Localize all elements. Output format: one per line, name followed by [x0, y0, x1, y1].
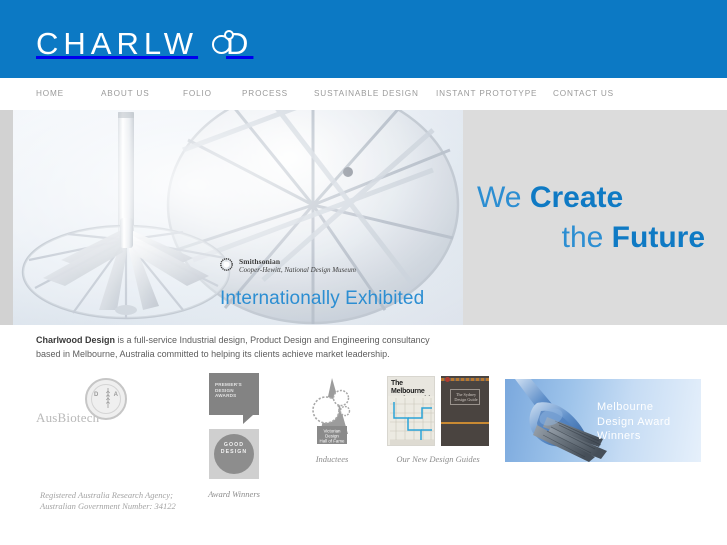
sydney-guide-title-line2: Design Guide [451, 397, 481, 402]
nav-item-contact-us[interactable]: CONTACT US [553, 78, 614, 110]
award-group-design-guides: The Melbourne Design Guide [383, 376, 493, 464]
hero-banner[interactable]: We Create the Future Smithsonian Cooper-… [0, 110, 727, 325]
good-design-line1: GOOD [209, 442, 259, 449]
hero-caption-internationally-exhibited: Internationally Exhibited [220, 288, 424, 310]
premiers-design-awards-logo: PREMIER'S DESIGN AWARDS [209, 373, 259, 415]
caption-inductees: Inductees [297, 454, 367, 464]
nav-item-about-us[interactable]: ABOUT US [101, 78, 150, 110]
melbourne-design-award-winners-panel[interactable]: Melbourne Design Award Winners [505, 379, 701, 462]
mdaw-line3: Winners [597, 429, 671, 444]
good-design-logo: GOOD DESIGN [209, 429, 259, 479]
smithsonian-subtitle: Cooper-Hewitt, National Design Museum [239, 266, 356, 275]
melbourne-guide-title-line1: The Melbourne [391, 380, 434, 396]
intro-paragraph: Charlwood Design is a full-service Indus… [36, 334, 456, 361]
da-badge-wheat-icon [106, 388, 110, 408]
premiers-line3: AWARDS [215, 393, 242, 399]
smithsonian-name: Smithsonian [239, 257, 356, 266]
svg-text:Hall of Fame: Hall of Fame [320, 439, 345, 444]
tagline-future: Future [612, 221, 705, 254]
main-navigation: HOME ABOUT US FOLIO PROCESS SUSTAINABLE … [0, 78, 727, 110]
caption-design-guides: Our New Design Guides [383, 454, 493, 464]
hero-tagline-panel: We Create the Future [463, 110, 727, 325]
melbourne-map-graphic [388, 396, 435, 446]
nav-item-process[interactable]: PROCESS [242, 78, 288, 110]
good-design-line2: DESIGN [209, 449, 259, 456]
site-header: CHARLW D [0, 0, 727, 78]
award-group-award-winners: PREMIER'S DESIGN AWARDS GOOD DESIGN Awar… [188, 373, 280, 499]
site-logo[interactable]: CHARLW D [36, 27, 253, 61]
hall-of-fame-icon: Victorian Design Hall of Fame [304, 376, 360, 448]
premiers-line1: PREMIER'S [215, 382, 242, 388]
victorian-design-hall-of-fame-logo: Victorian Design Hall of Fame [304, 376, 360, 448]
tagline-create: Create [530, 181, 623, 214]
registration-line2: Australian Government Number: 34122 [40, 501, 176, 512]
logo-double-circle-icon [212, 30, 236, 54]
awards-strip: AusBiotech D A PREMIER'S DESIGN AWAR [0, 368, 727, 498]
hero-left-strip [0, 110, 13, 325]
melbourne-design-guide-cover: The Melbourne Design Guide [387, 376, 435, 446]
caption-award-winners: Award Winners [188, 489, 280, 499]
smithsonian-credit: Smithsonian Cooper-Hewitt, National Desi… [220, 257, 356, 275]
intro-lead: Charlwood Design [36, 335, 115, 345]
nav-item-sustainable-design[interactable]: SUSTAINABLE DESIGN [314, 78, 419, 110]
hero-tagline: We Create the Future [477, 178, 727, 258]
nav-item-folio[interactable]: FOLIO [183, 78, 212, 110]
tagline-the: the [562, 221, 604, 254]
award-group-inductees: Victorian Design Hall of Fame Inductees [297, 376, 367, 464]
registration-note: Registered Australia Research Agency; Au… [40, 490, 176, 512]
sydney-design-guide-cover: The Sydney Design Guide [441, 376, 489, 446]
da-badge-right-letter: A [114, 392, 118, 398]
registration-line1: Registered Australia Research Agency; [40, 490, 176, 501]
mdaw-line1: Melbourne [597, 400, 671, 415]
nav-item-instant-prototype[interactable]: INSTANT PROTOTYPE [436, 78, 537, 110]
mdaw-line2: Design Award [597, 415, 671, 430]
tagline-we: We [477, 181, 521, 214]
award-design-badge: D A [85, 378, 127, 420]
nav-item-home[interactable]: HOME [36, 78, 64, 110]
page-root: CHARLW D HOME ABOUT US FOLIO PROCESS SUS… [0, 0, 727, 545]
da-badge-left-letter: D [94, 392, 98, 398]
smithsonian-sunburst-icon [220, 258, 233, 271]
logo-text-before: CHARLW [36, 27, 198, 61]
